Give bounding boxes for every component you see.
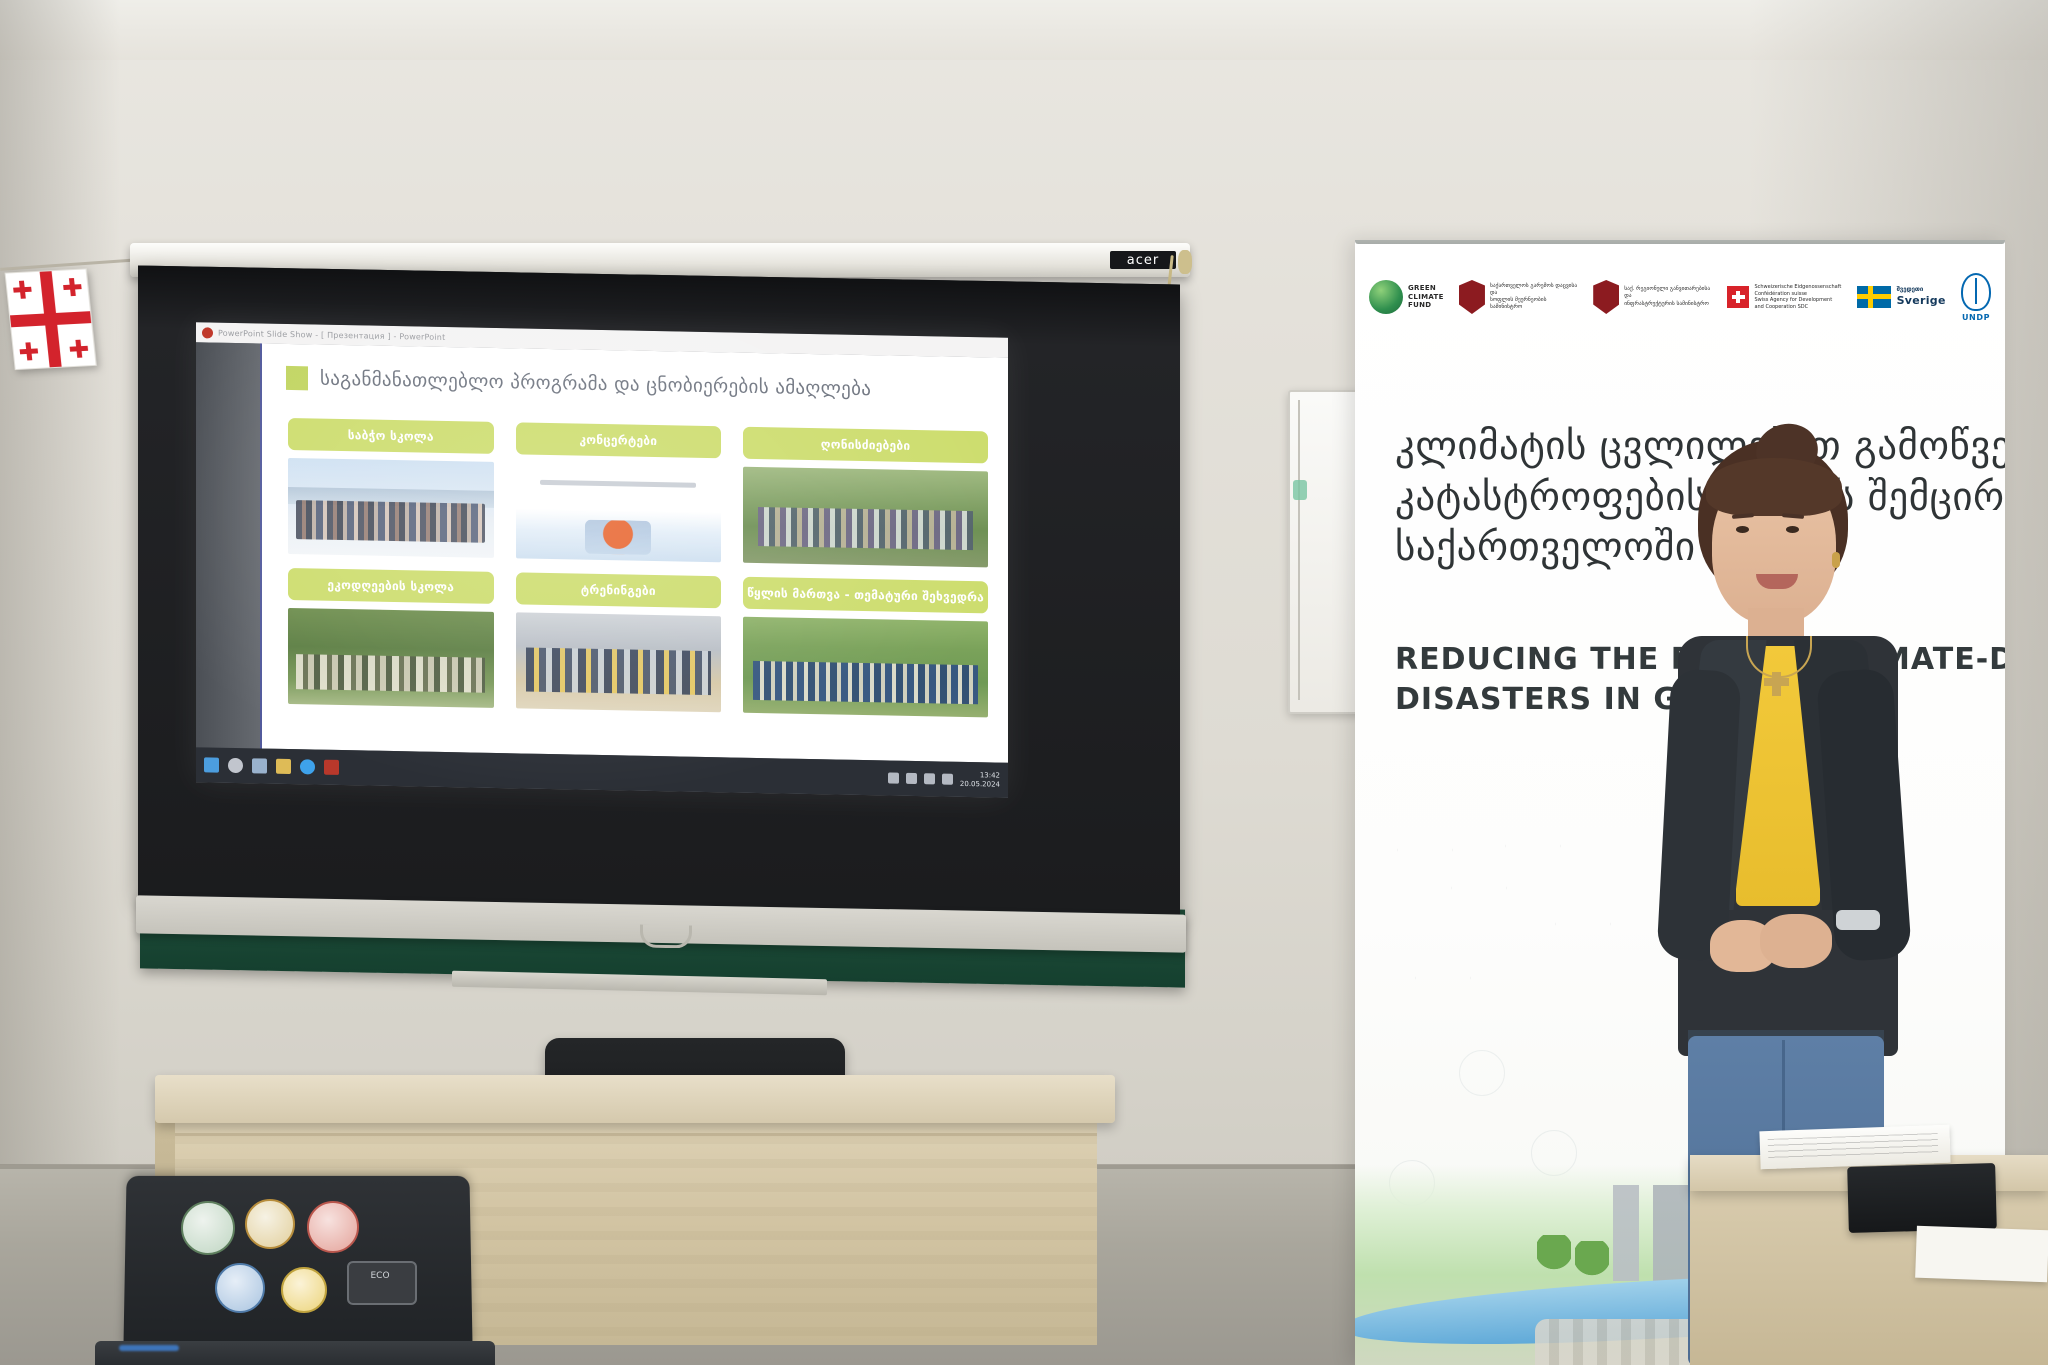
sverige-line-en: Sverige <box>1897 294 1946 308</box>
laptop-lid <box>123 1176 472 1348</box>
sticker-eco-icon <box>181 1201 235 1255</box>
reg-min-line-1: საქ. რეგიონული განვითარებისა და <box>1624 286 1712 300</box>
black-notebook <box>1847 1163 1997 1233</box>
slide-cell: წყლის მართვა - თემატური შეხვედრა <box>743 577 988 718</box>
slide-cell: ეკოდღეების სკოლა <box>288 568 494 708</box>
cell-photo-group-photo-snow-mountains <box>288 458 494 558</box>
green-climate-fund-logo: GREEN CLIMATE FUND <box>1369 280 1444 314</box>
slide-cell: ტრენინგები <box>516 572 722 712</box>
gcf-line-3: FUND <box>1408 301 1444 310</box>
slide-cell: ღონისძიებები <box>743 427 988 568</box>
eye-left <box>1736 526 1749 533</box>
wall-shadow-left <box>0 0 120 1365</box>
georgia-ministry-logo: საქართველოს გარემოს დაცვისა და სოფლის მე… <box>1459 280 1578 314</box>
swiss-line-1: Schweizerische Eidgenossenschaft <box>1754 284 1841 291</box>
slide-cell: საბჭო სკოლა <box>288 418 494 558</box>
loose-paper <box>1915 1226 2048 1283</box>
wall-hook <box>1293 480 1307 500</box>
reg-min-line-2: ინფრასტრუქტურის სამინისტრო <box>1624 301 1712 308</box>
window-title: PowerPoint Slide Show - [ Презентация ] … <box>218 328 445 341</box>
slide-cell: კონცერტები <box>516 422 722 562</box>
slide-left-margin <box>196 342 262 748</box>
volume-icon[interactable] <box>924 773 935 784</box>
acer-logo: acer <box>1110 251 1176 269</box>
powerpoint-taskbar-icon[interactable] <box>324 760 339 775</box>
cell-label: ტრენინგები <box>516 572 722 608</box>
battery-icon[interactable] <box>942 774 953 785</box>
slide-title: საგანმანათლებლო პროგრამა და ცნობიერების … <box>320 368 871 401</box>
slide-bullet-square <box>286 366 308 390</box>
windows-start-icon[interactable] <box>204 757 219 772</box>
swiss-line-4: and Cooperation SDC <box>1754 304 1841 311</box>
whiteboard-edge <box>1298 400 1300 700</box>
sticker-label-text: ECO <box>353 1271 407 1281</box>
laptop-led <box>119 1345 179 1351</box>
geo-min-line-2: სოფლის მეურნეობის სამინისტრო <box>1490 297 1578 311</box>
screen-cord-knot <box>1178 250 1192 274</box>
undp-mark-icon <box>1961 273 1991 311</box>
chevron-up-icon[interactable] <box>888 772 899 783</box>
undp-logo: UNDP <box>1961 273 1991 322</box>
georgian-flag <box>5 268 106 377</box>
sticker-rect-label <box>347 1261 417 1305</box>
hand-right <box>1760 914 1832 968</box>
powerpoint-icon <box>202 327 213 338</box>
cell-photo-forest-group-outdoors <box>288 608 494 708</box>
swiss-line-3: Swiss Agency for Development <box>1754 297 1841 304</box>
banner-top-rail <box>1355 240 2005 244</box>
sticker-blue-icon <box>215 1263 265 1313</box>
cell-label: კონცერტები <box>516 422 722 458</box>
regional-emblem-icon <box>1593 280 1619 314</box>
georgia-emblem-icon <box>1459 280 1485 314</box>
wristwatch <box>1836 910 1880 930</box>
gcf-line-1: GREEN <box>1408 284 1444 293</box>
cell-photo-indoor-workshop-tables <box>516 612 722 712</box>
ministry-regional-dev-logo: საქ. რეგიონული განვითარებისა და ინფრასტრ… <box>1593 280 1712 314</box>
undp-label: UNDP <box>1962 313 1990 322</box>
task-view-icon[interactable] <box>252 758 267 773</box>
search-icon[interactable] <box>228 758 243 773</box>
cell-label: წყლის მართვა - თემატური შეხვედრა <box>743 577 988 614</box>
slide-grid: საბჭო სკოლა კონცერტები ღონისძიებები ეკოდ… <box>288 418 988 717</box>
globe-icon <box>1369 280 1403 314</box>
sticker-round-icon <box>245 1199 295 1249</box>
cross-pendant-icon <box>1772 672 1781 696</box>
projected-slide: PowerPoint Slide Show - [ Презентация ] … <box>196 322 1008 798</box>
sweden-sverige-logo: შვედეთი Sverige <box>1857 286 1946 308</box>
gcf-line-2: CLIMATE <box>1408 293 1444 302</box>
taskbar-clock[interactable]: 13:42 20.05.2024 <box>960 771 1000 789</box>
sticker-yellow-icon <box>281 1267 327 1313</box>
sticker-red-icon <box>307 1201 359 1253</box>
hair-front <box>1706 458 1842 516</box>
photo-scene: acer PowerPoint Slide Show - [ Презентац… <box>0 0 2048 1365</box>
swiss-cross-icon <box>1727 286 1749 308</box>
cell-photo-poster-announcement <box>516 462 722 562</box>
swiss-cooperation-logo: Schweizerische Eidgenossenschaft Confédé… <box>1727 284 1841 310</box>
ceiling <box>0 0 2048 60</box>
screen-pull-handle[interactable] <box>640 925 692 949</box>
cell-label: ღონისძიებები <box>743 427 988 464</box>
slide-title-row: საგანმანათლებლო პროგრამა და ცნობიერების … <box>286 366 871 401</box>
slide-page: საგანმანათლებლო პროგრამა და ცნობიერების … <box>262 343 1008 762</box>
sweden-flag-icon <box>1857 286 1891 308</box>
laptop-with-stickers: ECO <box>95 1175 495 1365</box>
edge-icon[interactable] <box>300 759 315 774</box>
cell-label: ეკოდღეების სკოლა <box>288 568 494 604</box>
network-icon[interactable] <box>906 773 917 784</box>
geo-min-line-1: საქართველოს გარემოს დაცვისა და <box>1490 283 1578 297</box>
cell-label: საბჭო სკოლა <box>288 418 494 454</box>
file-explorer-icon[interactable] <box>276 759 291 774</box>
cell-photo-field-walk-participants <box>743 467 988 568</box>
earring <box>1832 552 1840 568</box>
cell-photo-school-group-blue-shirts <box>743 617 988 718</box>
sverige-line-ka: შვედეთი <box>1897 286 1946 294</box>
eye-right <box>1786 526 1799 533</box>
banner-logo-row: GREEN CLIMATE FUND საქართველოს გარემოს დ… <box>1369 258 1991 336</box>
clock-date: 20.05.2024 <box>960 779 1000 789</box>
